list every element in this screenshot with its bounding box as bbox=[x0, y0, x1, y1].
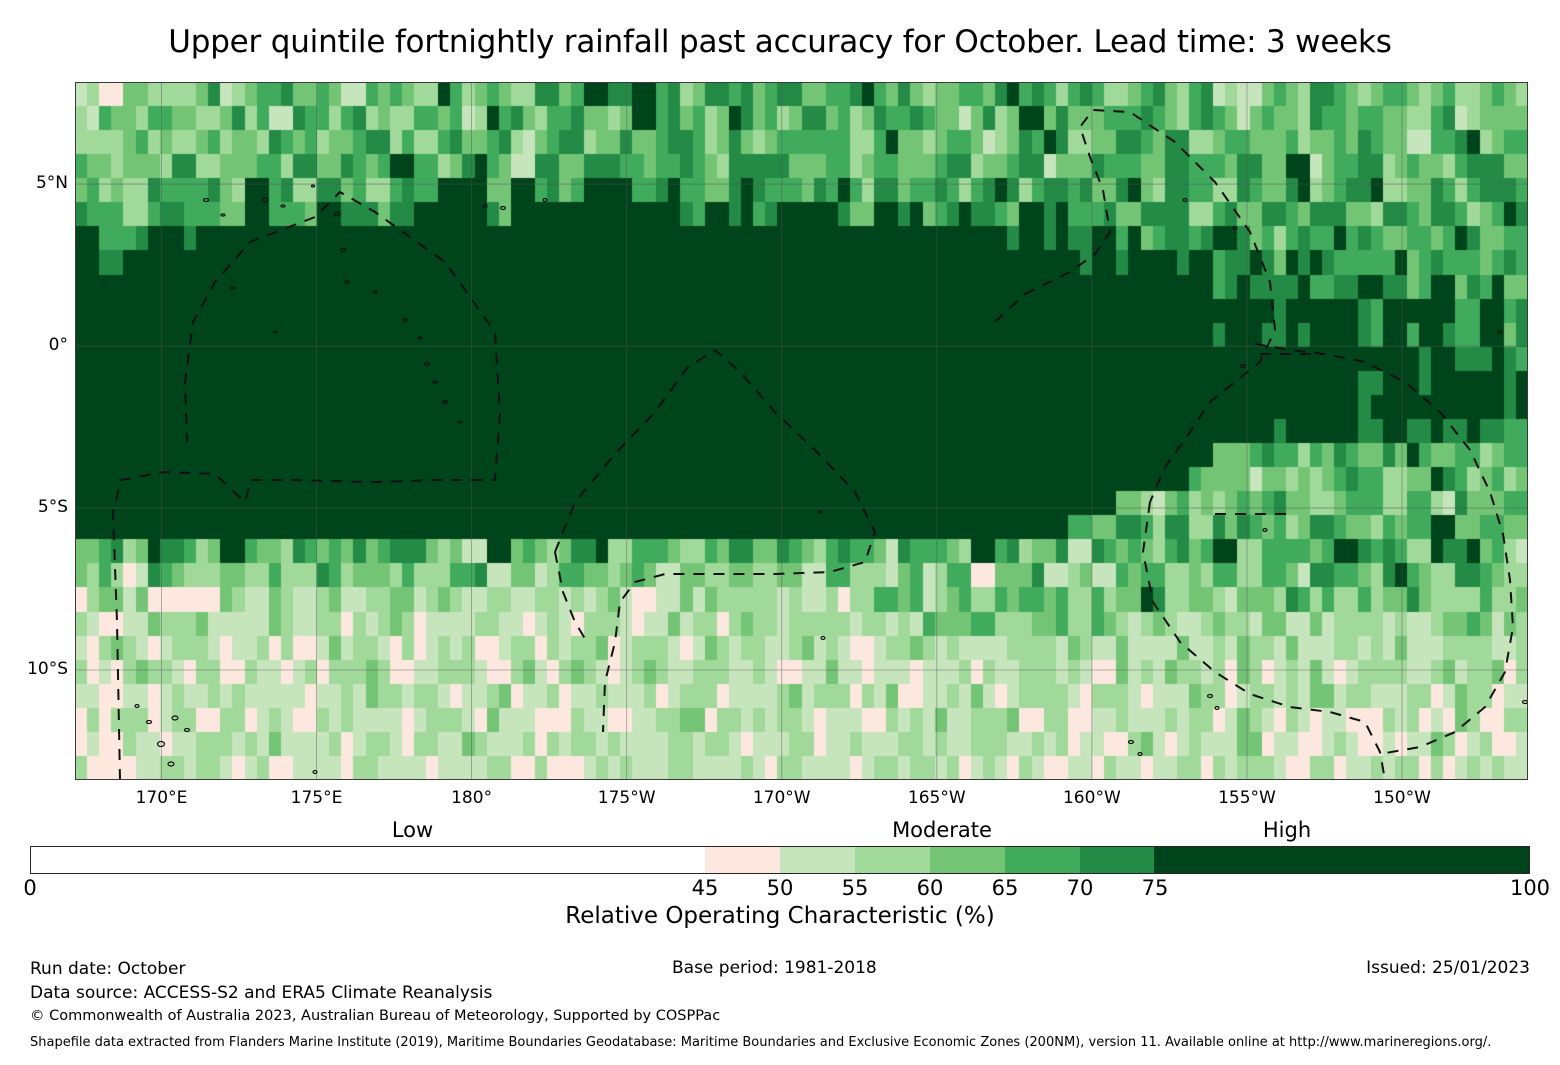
colorbar-label-high: High bbox=[1263, 818, 1311, 842]
map-gridlines bbox=[75, 82, 1528, 780]
island-outline-36 bbox=[1138, 753, 1142, 756]
lon-tick-5: 165°W bbox=[908, 788, 966, 808]
colorbar-tick-60: 60 bbox=[917, 876, 944, 900]
base-period-text: Base period: 1981-2018 bbox=[672, 958, 877, 978]
lon-tick-0: 170°E bbox=[136, 788, 188, 808]
colorbar-segment-70-75 bbox=[1080, 847, 1155, 873]
colorbar bbox=[30, 846, 1530, 874]
island-outline-7 bbox=[345, 281, 349, 284]
eez-line-1 bbox=[555, 350, 875, 732]
island-outline-22 bbox=[158, 742, 165, 747]
lat-tick-0: 5°N bbox=[36, 173, 68, 193]
data-source-text: Data source: ACCESS-S2 and ERA5 Climate … bbox=[30, 981, 720, 1005]
colorbar-tick-50: 50 bbox=[767, 876, 794, 900]
island-outline-21 bbox=[185, 729, 190, 732]
island-outline-35 bbox=[1129, 741, 1134, 744]
footer-left-block: Run date: October Data source: ACCESS-S2… bbox=[30, 957, 720, 1027]
colorbar-segment-50-55 bbox=[780, 847, 855, 873]
island-outline-27 bbox=[313, 771, 317, 774]
island-outline-15 bbox=[483, 205, 487, 208]
lat-tick-2: 5°S bbox=[38, 497, 68, 517]
lat-tick-3: 10°S bbox=[27, 659, 68, 679]
lon-tick-7: 155°W bbox=[1218, 788, 1276, 808]
eez-boundary-lines bbox=[113, 110, 1513, 780]
colorbar-tick-65: 65 bbox=[992, 876, 1019, 900]
lon-tick-4: 170°W bbox=[753, 788, 811, 808]
colorbar-tick-55: 55 bbox=[842, 876, 869, 900]
island-outline-32 bbox=[821, 637, 825, 640]
island-outline-40 bbox=[1208, 695, 1213, 698]
island-outline-11 bbox=[425, 363, 430, 366]
island-outline-5 bbox=[335, 213, 340, 216]
colorbar-axis-title: Relative Operating Characteristic (%) bbox=[0, 903, 1560, 929]
eez-line-3 bbox=[995, 110, 1275, 502]
issued-date-text: Issued: 25/01/2023 bbox=[1366, 958, 1530, 978]
island-outline-38 bbox=[1233, 227, 1237, 230]
map-overlay-layer bbox=[75, 82, 1528, 780]
map-plot-area bbox=[75, 82, 1528, 780]
island-outline-19 bbox=[274, 331, 277, 333]
colorbar-tick-0: 0 bbox=[23, 876, 36, 900]
island-outline-12 bbox=[433, 381, 437, 383]
island-outline-13 bbox=[443, 401, 448, 404]
eez-line-2 bbox=[555, 552, 587, 642]
island-outline-41 bbox=[1215, 707, 1219, 710]
island-outline-9 bbox=[403, 319, 408, 322]
colorbar-segment-65-70 bbox=[1005, 847, 1080, 873]
colorbar-label-moderate: Moderate bbox=[892, 818, 992, 842]
lat-tick-1: 0° bbox=[49, 335, 68, 355]
page-title: Upper quintile fortnightly rainfall past… bbox=[0, 24, 1560, 60]
island-outline-16 bbox=[501, 207, 506, 210]
island-outline-39 bbox=[1241, 365, 1246, 368]
island-outline-2 bbox=[262, 198, 268, 202]
colorbar-tick-75: 75 bbox=[1142, 876, 1169, 900]
colorbar-segment-45-50 bbox=[705, 847, 780, 873]
colorbar-segment-60-65 bbox=[930, 847, 1005, 873]
island-outline-4 bbox=[312, 185, 315, 187]
island-outline-20 bbox=[172, 716, 178, 720]
shapefile-attribution-text: Shapefile data extracted from Flanders M… bbox=[30, 1035, 1491, 1050]
coastline-islands bbox=[135, 185, 1528, 780]
eez-line-0 bbox=[113, 192, 500, 780]
copyright-text: © Commonwealth of Australia 2023, Austra… bbox=[30, 1005, 720, 1027]
island-outline-1 bbox=[221, 214, 225, 216]
island-outline-17 bbox=[543, 199, 547, 202]
colorbar-tick-70: 70 bbox=[1067, 876, 1094, 900]
island-outline-23 bbox=[168, 762, 174, 766]
eez-line-5 bbox=[1255, 344, 1513, 754]
island-outline-8 bbox=[373, 291, 377, 293]
colorbar-segment-75-100 bbox=[1154, 847, 1529, 873]
island-outline-37 bbox=[1183, 199, 1187, 202]
island-outline-14 bbox=[458, 421, 462, 423]
colorbar-segment-0-45 bbox=[31, 847, 705, 873]
colorbar-tick-labels: 045505560657075100 bbox=[0, 876, 1560, 904]
lon-tick-6: 160°W bbox=[1063, 788, 1121, 808]
island-outline-42 bbox=[1263, 529, 1267, 532]
colorbar-category-labels: LowModerateHigh bbox=[0, 818, 1560, 844]
colorbar-tick-100: 100 bbox=[1510, 876, 1550, 900]
island-outline-0 bbox=[204, 199, 209, 202]
lon-tick-8: 150°W bbox=[1373, 788, 1431, 808]
island-outline-26 bbox=[147, 721, 152, 724]
island-outline-45 bbox=[1498, 331, 1502, 334]
island-outline-3 bbox=[281, 205, 285, 207]
colorbar-segment-55-60 bbox=[855, 847, 930, 873]
eez-line-4 bbox=[1143, 502, 1385, 780]
lon-tick-2: 180° bbox=[451, 788, 492, 808]
lon-tick-1: 175°E bbox=[291, 788, 343, 808]
island-outline-10 bbox=[418, 337, 422, 339]
island-outline-31 bbox=[818, 511, 822, 514]
colorbar-tick-45: 45 bbox=[692, 876, 719, 900]
lon-tick-3: 175°W bbox=[598, 788, 656, 808]
colorbar-label-low: Low bbox=[392, 818, 433, 842]
island-outline-6 bbox=[341, 249, 346, 252]
island-outline-18 bbox=[231, 287, 235, 289]
island-outline-25 bbox=[135, 705, 139, 708]
island-outline-46 bbox=[1523, 701, 1528, 704]
run-date-text: Run date: October bbox=[30, 957, 720, 981]
